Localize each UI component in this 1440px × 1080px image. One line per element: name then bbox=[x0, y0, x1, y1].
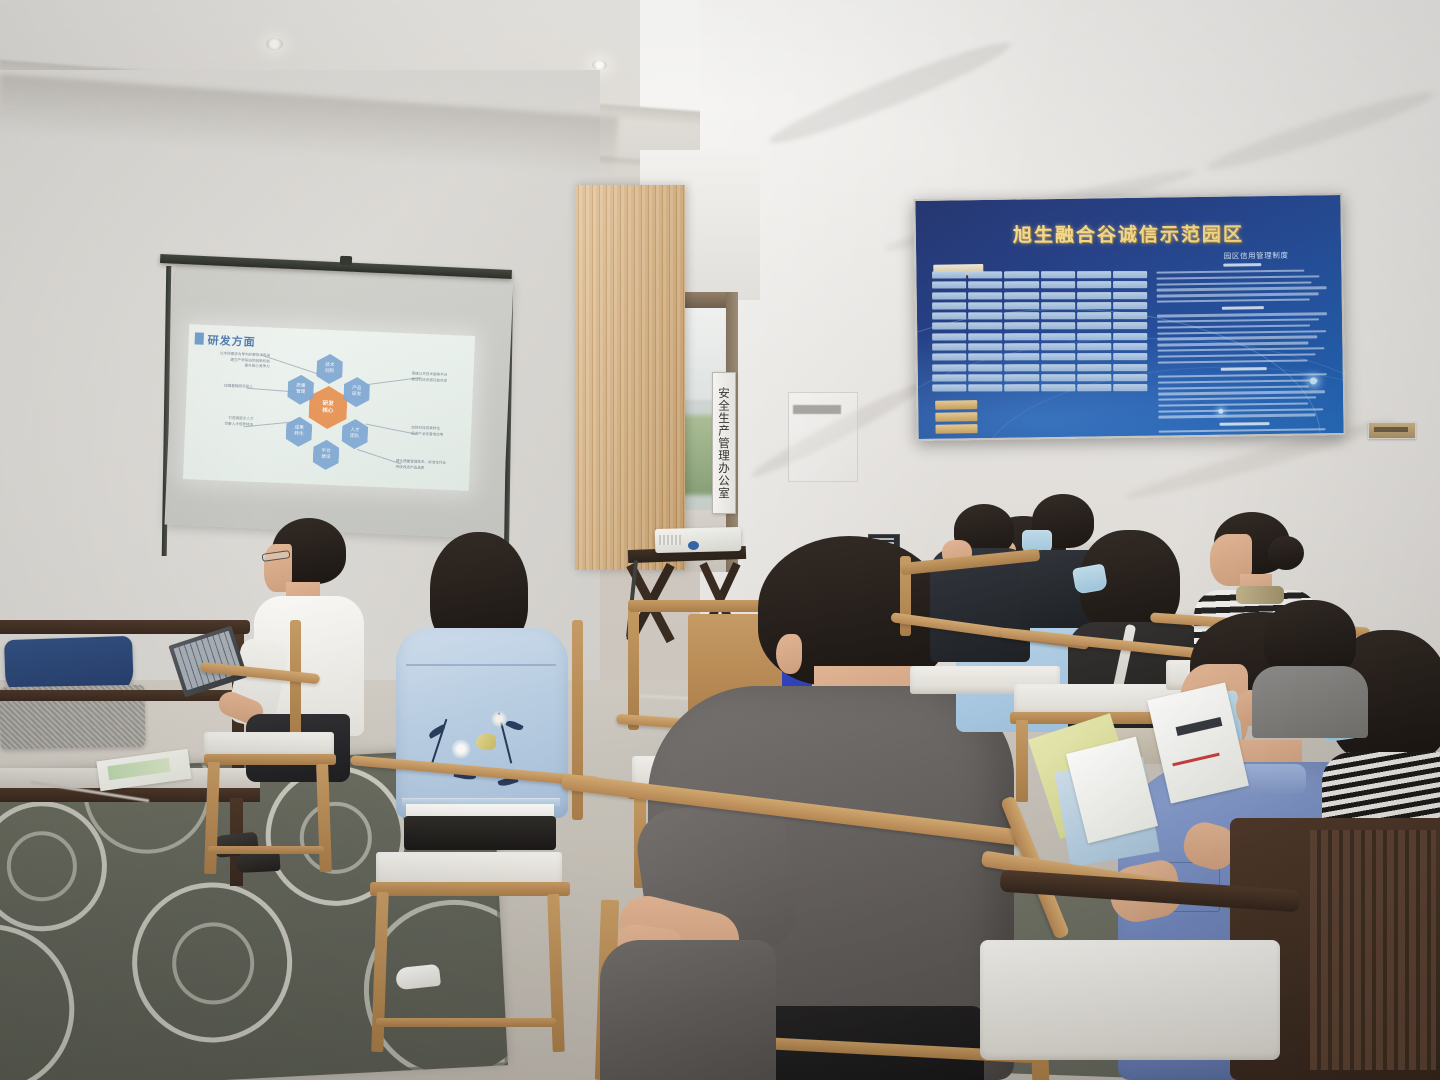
board-text-line bbox=[1157, 336, 1317, 341]
board-name-plate bbox=[932, 292, 966, 299]
board-name-plate bbox=[932, 313, 966, 320]
board-name-plate bbox=[1041, 354, 1075, 361]
chair-back-slats bbox=[1310, 830, 1436, 1070]
board-text-line bbox=[1158, 402, 1308, 406]
board-name-plate bbox=[1041, 292, 1075, 299]
notice-board: 旭生融合谷诚信示范园区 园区信用管理制度 bbox=[913, 193, 1345, 441]
board-text-line bbox=[1157, 292, 1319, 297]
board-section-heading bbox=[1223, 263, 1261, 267]
board-text-line bbox=[1156, 270, 1304, 274]
board-name-plate bbox=[932, 302, 966, 309]
board-text-line bbox=[1158, 379, 1318, 384]
person-man-rear-grey bbox=[1246, 600, 1376, 740]
board-name-plate bbox=[1113, 374, 1147, 381]
board-text-line bbox=[1158, 408, 1323, 413]
board-name-plate bbox=[932, 343, 966, 350]
board-name-plate bbox=[968, 343, 1002, 350]
slide-annotation: 加强基础研究投入 bbox=[199, 383, 253, 391]
screen-pull-knob-icon bbox=[340, 256, 352, 266]
slide-annotation: 引进高层次人才 完善人才培养体系 bbox=[191, 414, 253, 428]
board-name-plate bbox=[968, 385, 1002, 392]
slide-hexagon-label: 平台 建设 bbox=[321, 449, 331, 461]
downlight-icon bbox=[592, 60, 607, 70]
board-name-plate bbox=[1041, 323, 1075, 330]
board-name-plate bbox=[1113, 353, 1147, 360]
board-name-plate-grid bbox=[932, 271, 1147, 393]
board-name-plate bbox=[968, 323, 1002, 330]
board-name-plate bbox=[1041, 302, 1075, 309]
board-name-plate bbox=[1113, 312, 1147, 319]
board-text-line bbox=[1158, 359, 1308, 363]
hair bbox=[1264, 600, 1356, 676]
slide-hexagon-label: 质量 管理 bbox=[296, 384, 306, 396]
board-name-plate bbox=[1113, 302, 1147, 309]
board-name-plate bbox=[1113, 271, 1147, 278]
board-name-plate bbox=[1005, 364, 1039, 371]
board-name-plate bbox=[1004, 271, 1038, 278]
board-regulation-text bbox=[1156, 257, 1330, 427]
board-name-plate bbox=[1077, 323, 1111, 330]
board-text-line bbox=[1157, 287, 1327, 292]
board-name-plate bbox=[1041, 374, 1075, 381]
board-text-line bbox=[1156, 275, 1319, 280]
slide-title-bullet-icon bbox=[195, 332, 204, 344]
slide-annotation: 以市场需求为导向开展技术攻关 建立产学研协同创新机制 提升核心竞争力 bbox=[196, 350, 271, 370]
slide-hexagon-label: 产品 研发 bbox=[352, 386, 362, 398]
board-name-plate bbox=[1077, 292, 1111, 299]
board-name-plate bbox=[1005, 333, 1039, 340]
slide-hexagon: 人才 团队 bbox=[341, 419, 368, 450]
board-name-plate bbox=[1041, 333, 1075, 340]
board-name-plate bbox=[1041, 281, 1075, 288]
board-text-line bbox=[1158, 353, 1316, 358]
board-text-line bbox=[1157, 318, 1319, 323]
board-text-line bbox=[1157, 330, 1326, 335]
board-name-plate bbox=[932, 364, 966, 371]
armchair bbox=[200, 620, 360, 880]
board-text-line bbox=[1158, 391, 1325, 396]
board-name-plate bbox=[1077, 374, 1111, 381]
board-name-plate bbox=[932, 323, 966, 330]
ear bbox=[776, 634, 802, 674]
slide-center-hexagon: 研发 核心 bbox=[308, 385, 348, 430]
board-name-plate bbox=[968, 374, 1002, 381]
board-gold-plate bbox=[935, 412, 977, 422]
slide-annotation: 健全质量管理体系、标准化作业 持续改进产品品质 bbox=[395, 459, 463, 473]
gold-wall-plaque-text bbox=[1374, 427, 1408, 432]
board-name-plate bbox=[968, 354, 1002, 361]
board-name-plate bbox=[1041, 343, 1075, 350]
slide-hexagon-label: 技术 创新 bbox=[325, 363, 335, 375]
board-name-plate bbox=[1077, 302, 1111, 309]
board-text-line bbox=[1157, 298, 1310, 303]
board-name-plate bbox=[932, 282, 966, 289]
board-name-plate bbox=[1041, 271, 1075, 278]
board-name-plate bbox=[1004, 292, 1038, 299]
slide-annotation: 搭建公共技术服务平台 推动科技资源开放共享 bbox=[411, 371, 469, 385]
slide-annotation: 加快科技成果转化 促进产业化落地应用 bbox=[411, 425, 467, 438]
board-name-plate bbox=[968, 292, 1002, 299]
board-name-plate bbox=[968, 302, 1002, 309]
hair-bun-icon bbox=[1268, 536, 1304, 570]
board-name-plate bbox=[968, 271, 1002, 278]
glass-wall-plaque-text bbox=[793, 405, 841, 414]
board-name-plate bbox=[1077, 353, 1111, 360]
board-name-plate bbox=[1005, 384, 1039, 391]
board-name-plate bbox=[1077, 271, 1111, 278]
board-section-heading bbox=[1221, 367, 1267, 371]
board-text-line bbox=[1158, 396, 1316, 401]
wood-slat-panel-shading bbox=[575, 185, 685, 570]
board-name-plate bbox=[1113, 343, 1147, 350]
board-gold-plate bbox=[935, 424, 977, 434]
board-section-heading bbox=[1222, 306, 1264, 310]
board-name-plate bbox=[1005, 343, 1039, 350]
board-name-plate bbox=[932, 385, 966, 392]
board-name-plate bbox=[968, 333, 1002, 340]
board-name-plate bbox=[1041, 364, 1075, 371]
board-name-plate bbox=[1113, 384, 1147, 391]
board-name-plate bbox=[1113, 364, 1147, 371]
board-name-plate bbox=[1113, 322, 1147, 329]
office-sign-label: 安全生产管理办公室 bbox=[716, 387, 732, 500]
board-section-heading bbox=[1219, 422, 1269, 426]
slide-hexagon: 平台 建设 bbox=[312, 439, 339, 470]
board-name-plate bbox=[968, 312, 1002, 319]
office-sign: 安全生产管理办公室 bbox=[712, 372, 736, 514]
board-name-plate bbox=[1041, 312, 1075, 319]
grey-top bbox=[1252, 666, 1368, 738]
board-name-plate bbox=[1077, 384, 1111, 391]
board-name-plate bbox=[932, 354, 966, 361]
board-name-plate bbox=[1005, 374, 1039, 381]
slide-hexagon-label: 人才 团队 bbox=[350, 428, 360, 440]
board-name-plate bbox=[1113, 281, 1147, 288]
meeting-room-photo: 安全生产管理办公室 旭生融合谷诚信示范园区 园区信用管理制度 研发方面 bbox=[0, 0, 1440, 1080]
board-name-plate bbox=[1004, 312, 1038, 319]
board-text-line bbox=[1157, 342, 1308, 347]
board-name-plate bbox=[1077, 343, 1111, 350]
slide-hexagon-label: 成果 转化 bbox=[294, 426, 304, 438]
slide-center-hexagon-label: 研发 核心 bbox=[322, 400, 334, 414]
board-name-plate bbox=[1005, 323, 1039, 330]
board-name-plate bbox=[932, 374, 966, 381]
board-name-plate bbox=[1077, 333, 1111, 340]
board-name-plate bbox=[1077, 364, 1111, 371]
notice-board-title: 旭生融合谷诚信示范园区 bbox=[916, 219, 1341, 247]
board-name-plate bbox=[932, 271, 966, 278]
board-text-line bbox=[1157, 313, 1327, 318]
board-name-plate bbox=[1004, 302, 1038, 309]
board-name-plate bbox=[932, 333, 966, 340]
board-text-line bbox=[1158, 373, 1327, 378]
board-name-plate bbox=[968, 282, 1002, 289]
armchair-foreground-mid bbox=[1000, 880, 1300, 1080]
presentation-slide: 研发方面 研发 核心 技术 创新 产品 研发 人才 团队 平台 建设 成果 转化… bbox=[183, 324, 475, 491]
downlight-icon bbox=[266, 38, 283, 50]
board-text-line bbox=[1157, 324, 1310, 329]
board-name-plate bbox=[1004, 282, 1038, 289]
board-text-line bbox=[1157, 347, 1324, 352]
board-text-line bbox=[1157, 281, 1312, 286]
slide-hexagon: 技术 创新 bbox=[316, 353, 343, 384]
board-name-plate bbox=[1041, 384, 1075, 391]
light-top bbox=[600, 940, 776, 1080]
board-gold-plate bbox=[935, 400, 977, 410]
board-name-plate bbox=[1113, 292, 1147, 299]
board-name-plate bbox=[1005, 354, 1039, 361]
slide-title: 研发方面 bbox=[207, 332, 256, 350]
board-text-line bbox=[1158, 385, 1309, 390]
board-name-plate bbox=[968, 364, 1002, 371]
board-name-plate bbox=[1077, 312, 1111, 319]
board-name-plate bbox=[1077, 281, 1111, 288]
board-text-line bbox=[1158, 414, 1315, 419]
board-name-plate bbox=[1113, 333, 1147, 340]
person-partial-left bbox=[600, 940, 780, 1080]
